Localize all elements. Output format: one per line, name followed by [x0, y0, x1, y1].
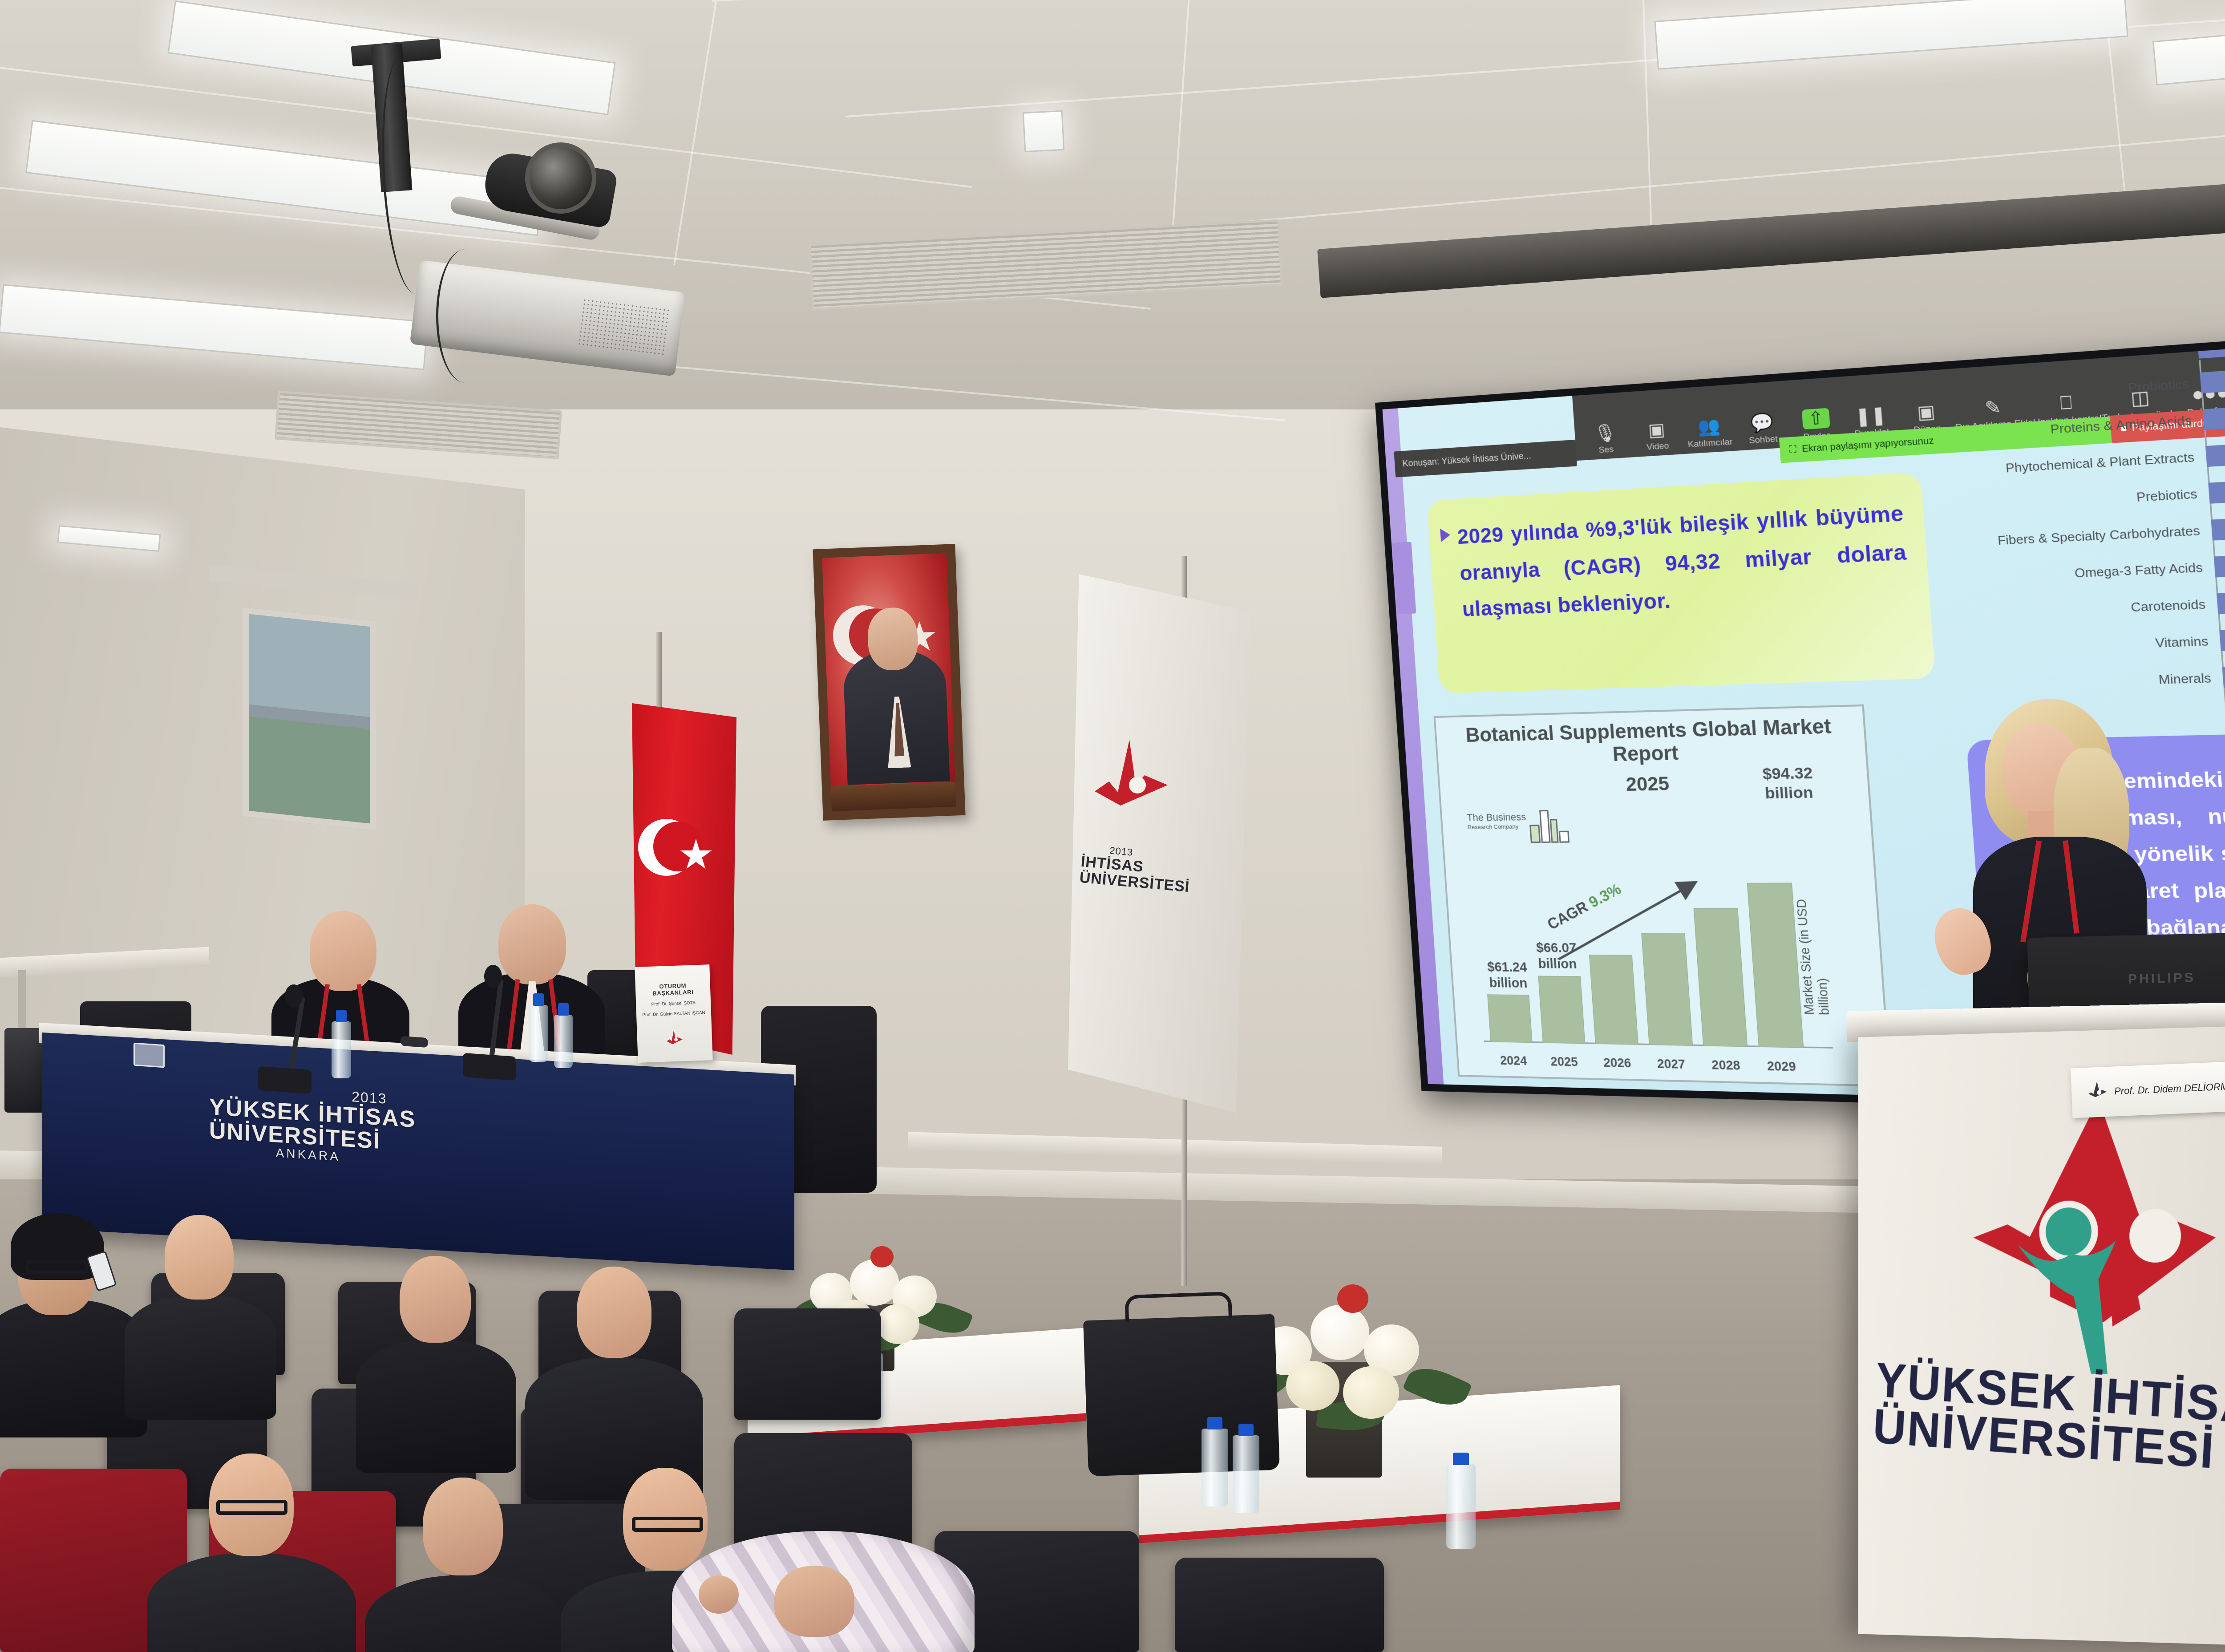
ceiling-light-spot	[1023, 110, 1065, 153]
eyeglasses	[400, 1036, 428, 1048]
microphone-icon	[285, 984, 303, 1008]
audience-member-hand	[699, 1575, 739, 1614]
bullet-arrow-icon	[1440, 528, 1451, 542]
microphone-base	[258, 1066, 311, 1094]
university-logo-small	[2087, 1080, 2108, 1104]
chat-icon: 💬	[1750, 413, 1774, 433]
hbar-bar-prebiotics	[2208, 481, 2225, 504]
chart-plot-area: $61.24 billion 2024 $66.07 billion 2025 …	[1472, 864, 1833, 1049]
chart-xtick-2028: 2028	[1699, 1057, 1753, 1073]
water-bottle[interactable]	[554, 1015, 573, 1068]
audience-chair[interactable]	[1175, 1558, 1384, 1652]
screen-share-icon: ⛶	[1789, 444, 1797, 455]
audience-member	[654, 1531, 983, 1652]
audience-member-head	[165, 1215, 234, 1300]
chart-xtick-2029: 2029	[1754, 1059, 1809, 1075]
slide-callout-text: 2029 yılında %9,3'lük bileşik yıllık büy…	[1456, 494, 1910, 627]
session-chairs-tent-card: OTURUM BAŞKANLARI Prof. Dr. Şensel ŞOTA …	[635, 964, 712, 1063]
chart-bar-label-2029: $94.32 billion	[1737, 763, 1841, 803]
podium: 2013 YÜKSEK İHTİSAS ÜNİVERSİTESİ	[1858, 1019, 2225, 1652]
water-bottle[interactable]	[332, 1021, 351, 1078]
projector-cable	[436, 249, 494, 383]
hbar-label-minerals: Minerals	[1977, 670, 2223, 692]
chart-bar-2028	[1694, 908, 1748, 1047]
audience-member	[160, 1411, 338, 1652]
tent-card-name-2: Prof. Dr. Gülçin SALTAN İŞCAN	[641, 1010, 707, 1017]
teams-video-label: Video	[1646, 441, 1669, 453]
session-chair-1-head	[310, 911, 376, 991]
audience-member	[129, 1184, 263, 1389]
teams-audio-label: Ses	[1598, 445, 1614, 456]
hbar-label-prebiotics: Prebiotics	[1964, 486, 2209, 514]
water-bottle[interactable]	[529, 1005, 548, 1062]
portrait-rail	[831, 781, 956, 811]
chart-bar-2025	[1538, 976, 1585, 1044]
session-chair-2-head	[498, 904, 566, 984]
audience-member-body	[125, 1295, 276, 1420]
microphone-base	[463, 1053, 516, 1081]
camera-icon: ▣	[1648, 421, 1666, 440]
eyeglasses	[26, 1260, 88, 1274]
hbar-bar-fibers	[2211, 518, 2225, 541]
eyeglasses	[632, 1517, 703, 1532]
share-up-arrow-icon: ⇧	[1802, 408, 1830, 430]
portrait-head	[867, 607, 919, 671]
supplement-ingredient-category-bar-chart: Probiotics Proteins & Amino Acids Phytoc…	[1955, 334, 2225, 725]
teams-participants-label: Katılımcılar	[1687, 437, 1733, 450]
speaker-nameplate: Prof. Dr. Didem DELİORMAN ORHAN	[2071, 1059, 2225, 1118]
university-flag	[1068, 574, 1250, 1113]
teams-video-button[interactable]: ▣ Video	[1630, 420, 1684, 454]
monitor-brand-label: PHILIPS	[2128, 970, 2196, 987]
hbar-label-fibers: Fibers & Specialty Carbohydrates	[1966, 522, 2213, 550]
teams-chat-label: Sohbet	[1748, 434, 1778, 446]
microphone-icon	[484, 965, 502, 988]
hbar-bar-omega3	[2214, 555, 2225, 577]
audience-member-body	[365, 1575, 565, 1652]
pause-icon: ❚❚	[1854, 406, 1887, 426]
audience-seating	[0, 1139, 1424, 1652]
audience-member	[365, 1219, 503, 1433]
hbar-label-vitamins: Vitamins	[1974, 633, 2221, 656]
hbar-label-proteins: Proteins & Amino Acids	[1958, 412, 2204, 442]
speaker-name-label: Prof. Dr. Didem DELİORMAN ORHAN	[2114, 1079, 2225, 1097]
chart-xtick-2025: 2025	[1538, 1054, 1590, 1069]
eyeglasses	[216, 1500, 287, 1515]
yuksek-ihtisas-university-logo	[1969, 1092, 2225, 1374]
chart-bar-2026	[1589, 955, 1638, 1045]
hbar-label-omega3: Omega-3 Fatty Acids	[1969, 559, 2215, 585]
layout-icon: ▣	[1917, 403, 1936, 422]
window	[243, 607, 376, 830]
audience-member-head	[774, 1566, 854, 1637]
teams-participants-button[interactable]: 👥 Katılımcılar	[1682, 416, 1737, 451]
teams-active-speaker-label: Konuşan: Yüksek İhtisas Ünive...	[1402, 450, 1531, 469]
audience-member-head	[577, 1267, 651, 1358]
podium-wordmark: 2013 YÜKSEK İHTİSAS ÜNİVERSİTESİ	[1872, 1356, 2225, 1490]
slide-callout-box: 2029 yılında %9,3'lük bileşik yıllık büy…	[1427, 472, 1935, 694]
conference-hall-photo: 🎙 Ses ▣ Video 👥 Katılımcılar 💬 Sohbet ⇧	[0, 0, 2225, 1652]
water-bottle[interactable]	[1446, 1464, 1476, 1549]
chart-bar-2024	[1487, 995, 1532, 1043]
hbar-label-carotenoids: Carotenoids	[1971, 596, 2218, 621]
tent-card-name-1: Prof. Dr. Şensel ŞOTA	[640, 1000, 706, 1007]
chart-xtick-2027: 2027	[1645, 1057, 1698, 1072]
audience-member	[374, 1433, 552, 1652]
chart-xtick-2026: 2026	[1591, 1056, 1644, 1071]
hbar-bar-carotenoids	[2217, 593, 2225, 615]
audience-chair[interactable]	[734, 1308, 881, 1420]
botanical-supplements-bar-chart: Botanical Supplements Global Market Repo…	[1434, 705, 1892, 1087]
people-icon: 👥	[1697, 417, 1721, 436]
audience-member-head	[423, 1478, 503, 1575]
business-research-company-logo: The Business Research Company	[1466, 810, 1572, 855]
chart-title-line1: Botanical Supplements Global Market Repo…	[1436, 706, 1866, 769]
hbar-bar-proteins	[2203, 397, 2225, 430]
hbar-bar-phytochemical	[2205, 444, 2225, 467]
hbar-label-phytochemical: Phytochemical & Plant Extracts	[1961, 449, 2207, 478]
yuksek-ihtisas-university-logo	[1091, 739, 1171, 832]
teams-audio-button[interactable]: 🎙 Ses	[1579, 423, 1632, 458]
ataturk-portrait	[813, 544, 965, 821]
hbar-label-probiotics: Probiotics	[1956, 375, 2201, 407]
teams-active-speaker-chip: Konuşan: Yüksek İhtisas Ünive...	[1394, 440, 1577, 478]
tent-card-title: OTURUM BAŞKANLARI	[640, 981, 706, 997]
teams-share-banner-label: Ekran paylaşımı yapıyorsunuz	[1802, 435, 1934, 454]
audience-member-head	[400, 1256, 471, 1343]
crescent-icon	[638, 819, 695, 876]
university-logo-small	[665, 1029, 684, 1050]
microphone-icon: 🎙	[1594, 424, 1617, 443]
brc-logo-bars-icon	[1527, 807, 1571, 843]
audience-member-body	[147, 1553, 356, 1652]
drinking-glass[interactable]	[133, 1043, 165, 1068]
chart-xtick-2024: 2024	[1488, 1053, 1539, 1069]
